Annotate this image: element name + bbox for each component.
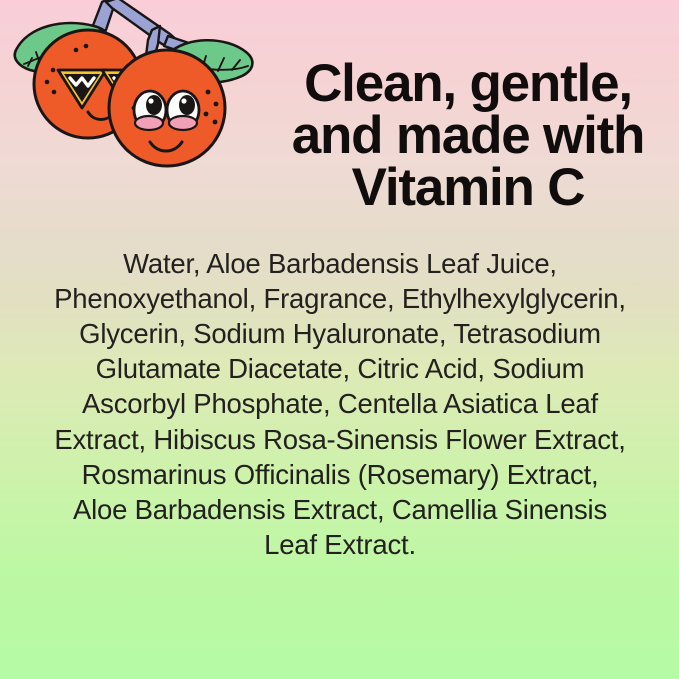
orange-illustration	[2, 0, 270, 196]
freckles	[132, 90, 219, 127]
orange-illustration-svg	[2, 0, 270, 196]
left-leaf-icon	[15, 23, 109, 73]
orange-with-sunglasses	[34, 30, 150, 138]
sunglasses-icon	[58, 70, 150, 108]
eyes-icon	[134, 91, 199, 129]
smile-icon	[88, 112, 114, 120]
blush-icon	[135, 116, 197, 130]
page-title: Clean, gentle, and made with Vitamin C	[268, 58, 668, 214]
smile-icon	[150, 142, 182, 151]
infographic-canvas: Clean, gentle, and made with Vitamin C W…	[0, 0, 679, 679]
right-leaf-icon	[163, 40, 252, 82]
branch-stem-icon	[92, 0, 216, 62]
freckles	[45, 44, 89, 95]
ingredients-text: Water, Aloe Barbadensis Leaf Juice, Phen…	[52, 246, 628, 563]
orange-with-eyes	[109, 50, 225, 166]
